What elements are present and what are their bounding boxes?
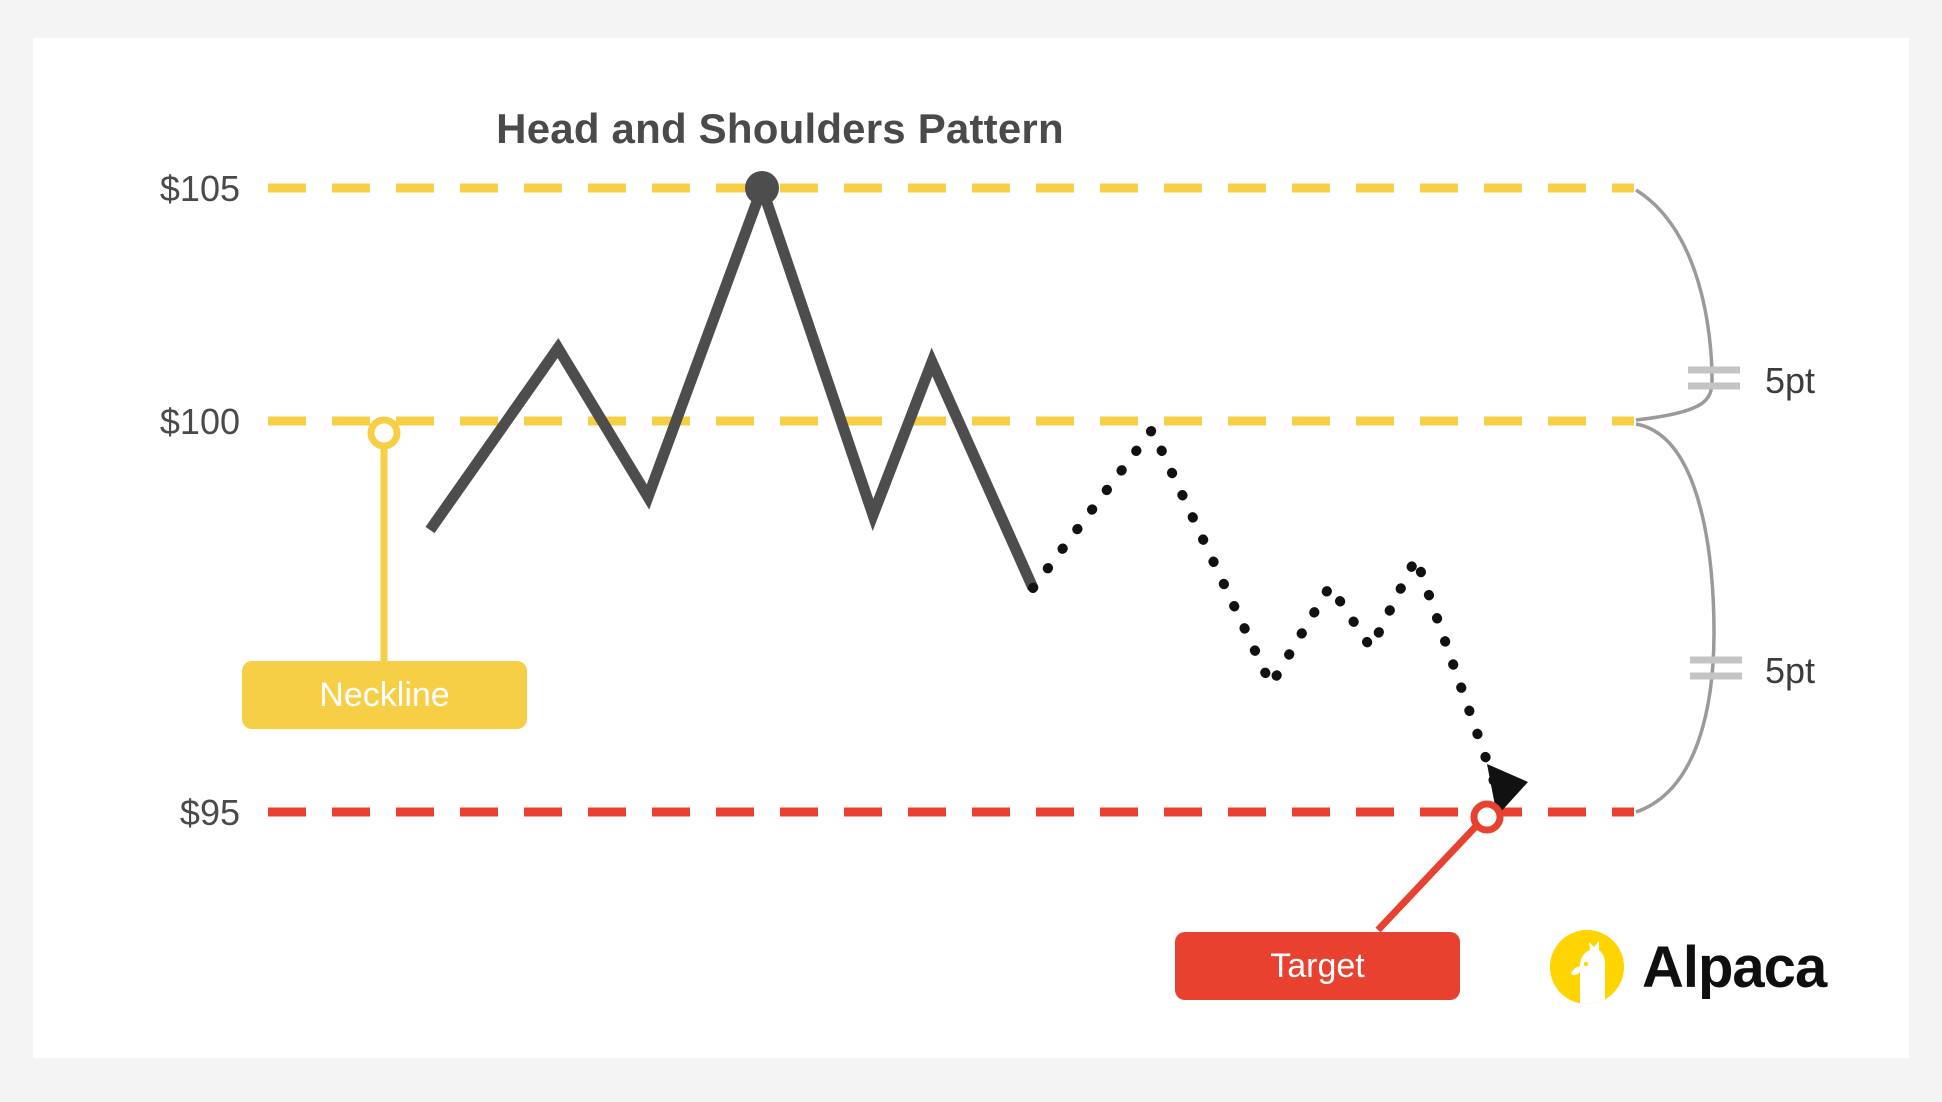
lower-brace	[1636, 424, 1714, 812]
target-connector	[1378, 822, 1480, 930]
brace-label-lower: 5pt	[1765, 650, 1815, 692]
head-peak-dot	[745, 171, 779, 205]
target-tag[interactable]: Target	[1175, 932, 1460, 1000]
price-line-solid	[430, 188, 1033, 588]
neckline-anchor-dot	[371, 420, 397, 446]
alpaca-mark-icon	[1550, 930, 1624, 1004]
projection-line-dotted	[1033, 430, 1497, 790]
brace-label-upper: 5pt	[1765, 360, 1815, 402]
target-tag-label: Target	[1270, 947, 1365, 986]
y-axis-label-95: $95	[40, 792, 240, 834]
y-axis-label-100: $100	[40, 401, 240, 443]
alpaca-logo: Alpaca	[1550, 930, 1826, 1004]
neckline-tag-label: Neckline	[319, 676, 449, 715]
target-anchor-dot	[1474, 804, 1500, 830]
y-axis-label-105: $105	[40, 168, 240, 210]
neckline-tag[interactable]: Neckline	[242, 661, 527, 729]
chart-title: Head and Shoulders Pattern	[0, 105, 1560, 153]
alpaca-wordmark: Alpaca	[1642, 934, 1826, 1001]
chart-stage: Head and Shoulders Pattern $105 $100 $95…	[0, 0, 1942, 1102]
